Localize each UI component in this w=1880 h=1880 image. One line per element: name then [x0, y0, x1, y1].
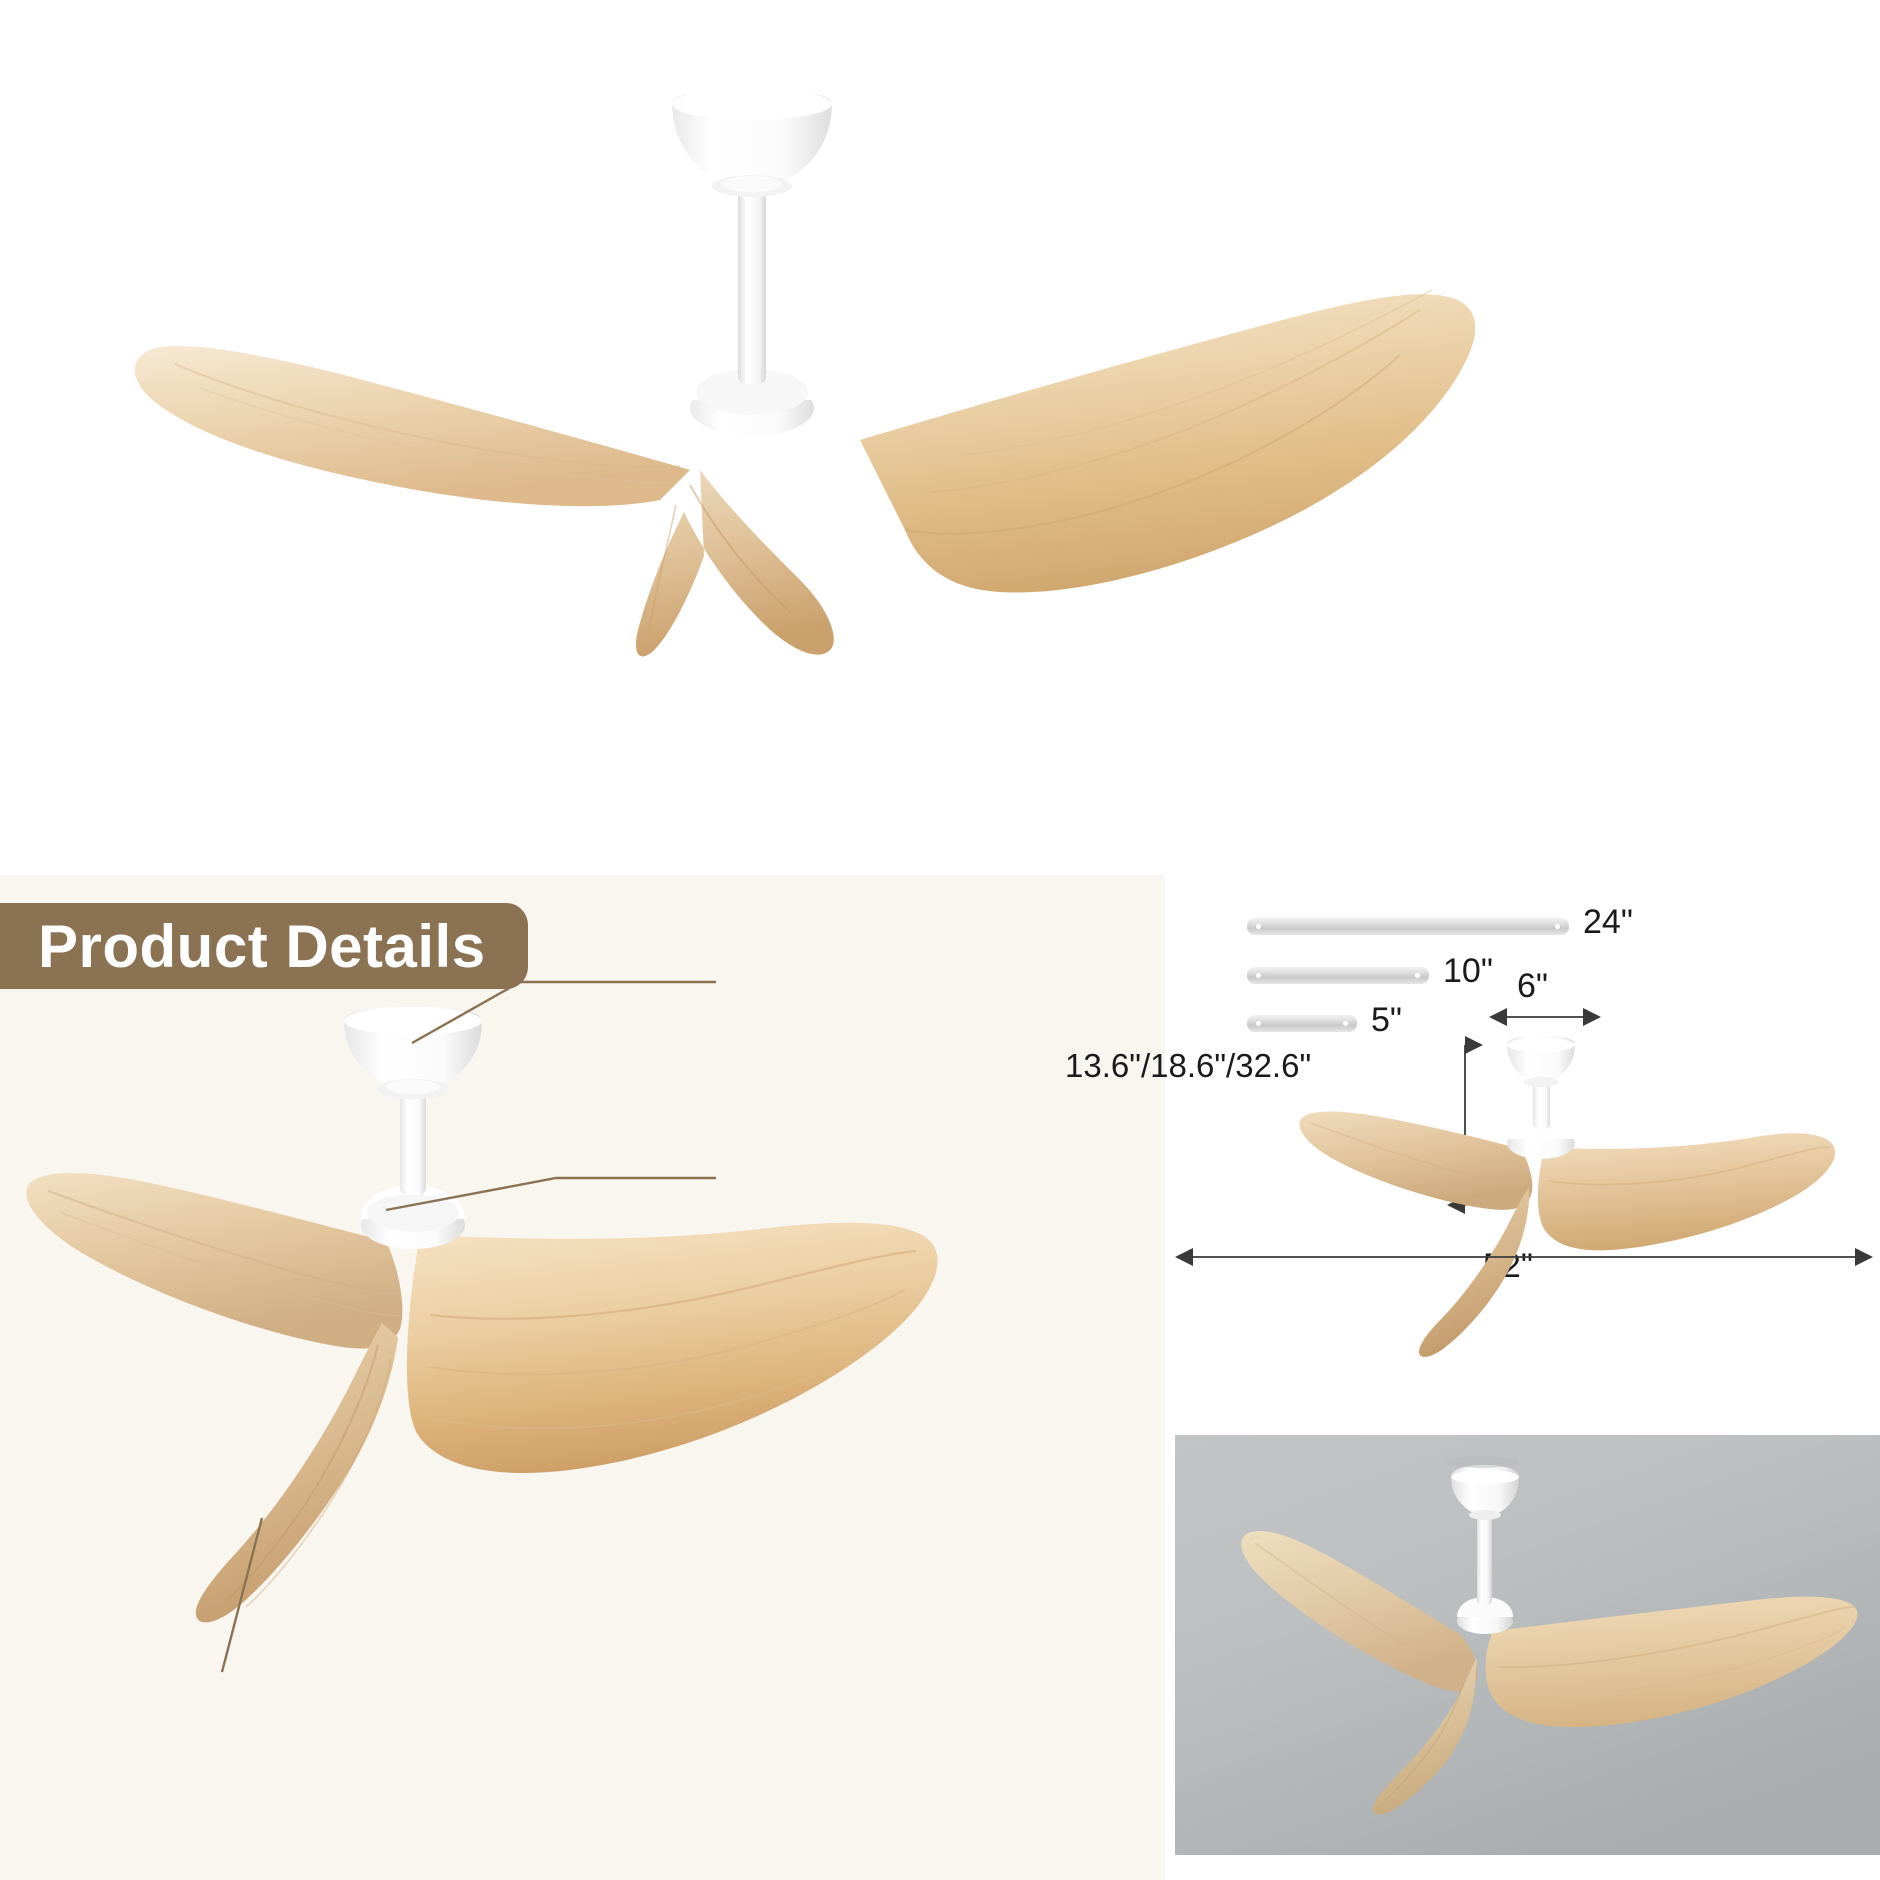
dim-blade-front [1419, 1187, 1529, 1357]
hero-blade-right [860, 294, 1475, 592]
hero-blade-left [135, 346, 690, 506]
dim-blade-right [1538, 1133, 1835, 1250]
product-details-panel: Product Details [0, 875, 1165, 1880]
infographic-page: Product Details [0, 0, 1880, 1880]
dim-blade-left [1300, 1112, 1533, 1210]
hero-panel [0, 0, 1880, 875]
product-details-title: Product Details [38, 912, 486, 981]
hero-fan-illustration [0, 0, 1880, 875]
room-downrod [1477, 1513, 1492, 1605]
product-details-badge: Product Details [0, 903, 528, 989]
detail-blade-front [196, 1323, 398, 1622]
room-fan-illustration [1175, 1435, 1880, 1855]
dimensions-panel: 24" 10" 5" 6" 13.6"/18.6"/32.6" 52" [1165, 875, 1880, 1435]
hero-downrod [738, 188, 766, 384]
detail-blade-left [26, 1173, 402, 1349]
dimension-fan-illustration [1165, 875, 1880, 1435]
detail-fan-illustration [0, 985, 1000, 1805]
hero-blade-front [636, 470, 834, 656]
installed-fan-room-photo [1175, 1435, 1880, 1855]
